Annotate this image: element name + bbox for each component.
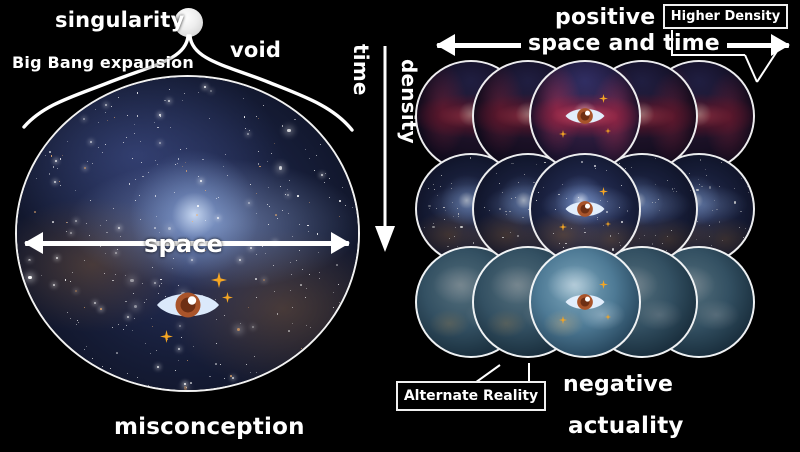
callout-alternate-reality-label: Alternate Reality <box>404 388 538 404</box>
eye-icon <box>563 196 607 222</box>
arrow-head-left <box>436 34 455 56</box>
caption-misconception: misconception <box>114 414 305 440</box>
multiverse-lattice <box>415 60 800 390</box>
arrow-head-right <box>771 34 790 56</box>
label-space: space <box>144 230 223 258</box>
label-void: void <box>230 38 281 62</box>
label-positive: positive <box>555 5 655 30</box>
label-space-and-time: space and time <box>521 31 727 56</box>
callout-higher-density[interactable]: Higher Density <box>663 4 788 29</box>
label-singularity: singularity <box>55 8 184 32</box>
callout-higher-density-label: Higher Density <box>671 9 780 24</box>
eye-icon <box>153 285 223 325</box>
diagram-canvas: singularity Big Bang expansion void spac… <box>0 0 800 452</box>
eye-icon <box>563 289 607 315</box>
label-big-bang-expansion: Big Bang expansion <box>12 53 194 72</box>
arrow-head-left <box>24 232 43 254</box>
label-negative: negative <box>563 372 673 397</box>
label-time: time <box>349 44 373 90</box>
caption-actuality: actuality <box>568 413 684 439</box>
eye-icon <box>563 103 607 129</box>
callout-alternate-reality[interactable]: Alternate Reality <box>396 381 546 411</box>
arrow-head-right <box>331 232 350 254</box>
